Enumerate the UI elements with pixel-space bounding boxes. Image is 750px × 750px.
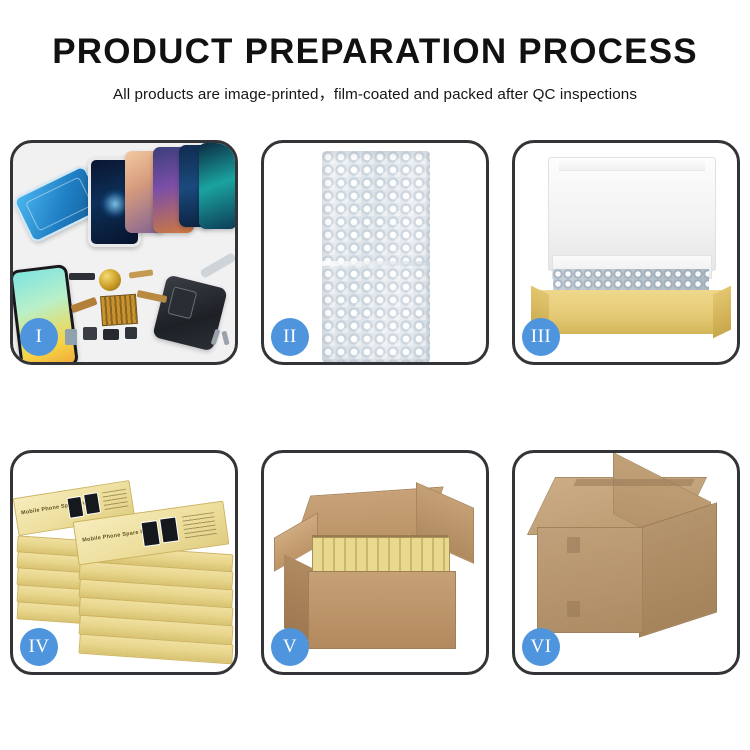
printed-box-a-thumb-1 (66, 496, 84, 519)
panel-step-6: VI (512, 450, 740, 675)
step-badge-5: V (271, 628, 309, 666)
printed-box-b-spec-lines (182, 512, 217, 540)
step-badge-2: II (271, 318, 309, 356)
chip-array-part (100, 294, 138, 326)
sealed-carton-front-face (537, 527, 643, 633)
bubble-wrap-sleeve-image (322, 151, 430, 362)
bubble-wrap-seam (322, 261, 430, 266)
panel-step-5: V (261, 450, 489, 675)
screwdriver-part-b (221, 331, 229, 346)
carton-yellow-box-contents (312, 537, 450, 575)
printed-box-b-thumb-2 (159, 516, 179, 543)
panel-step-4: Mobile Phone Spare Parts Mobile Phone Sp… (10, 450, 238, 675)
gold-connector-part (99, 269, 121, 291)
process-step-grid: I II III (10, 140, 740, 675)
battery-strip-part (69, 273, 95, 280)
sealed-carton-right-side (639, 502, 717, 637)
sim-tray-part (65, 329, 77, 345)
flex-cable-part-c (129, 269, 154, 278)
carton-front-face (308, 571, 456, 649)
printed-box-a-spec-lines (102, 489, 129, 513)
inner-box-kraft-tray (541, 290, 721, 334)
step-badge-6: VI (522, 628, 560, 666)
header: PRODUCT PREPARATION PROCESS All products… (0, 0, 750, 104)
printed-box-a-thumb-2 (83, 492, 101, 515)
printed-box-b-thumb-1 (140, 520, 160, 547)
sealed-carton-tape-bottom (567, 601, 580, 617)
page-subtitle: All products are image-printed，film-coat… (0, 71, 750, 104)
flex-cable-part-a (70, 297, 97, 313)
sealed-carton-tape-top (567, 537, 580, 553)
teal-phone-image (199, 143, 235, 229)
panel-step-2: II (261, 140, 489, 365)
step-badge-1: I (20, 318, 58, 356)
panel-step-1: I (10, 140, 238, 365)
sealed-carton-top-seam (573, 479, 694, 486)
small-component-c (125, 327, 137, 339)
page-title: PRODUCT PREPARATION PROCESS (0, 0, 750, 71)
small-component-a (83, 327, 97, 340)
tweezers-part (199, 252, 235, 279)
small-component-b (103, 329, 119, 340)
step-badge-3: III (522, 318, 560, 356)
panel-step-3: III (512, 140, 740, 365)
step-badge-4: IV (20, 628, 58, 666)
inner-box-lid (548, 157, 716, 271)
infographic-page: PRODUCT PREPARATION PROCESS All products… (0, 0, 750, 750)
